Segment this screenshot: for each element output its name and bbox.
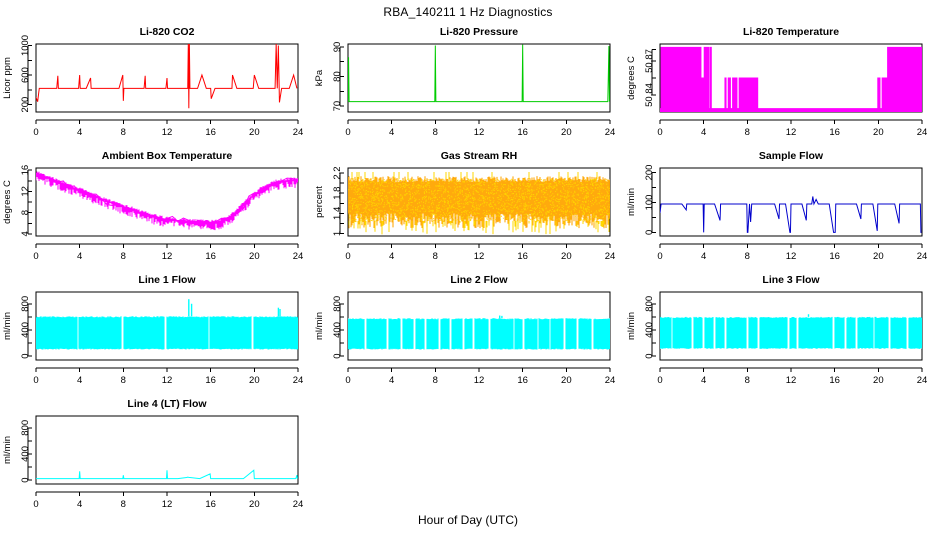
x-tick-label: 4 (701, 251, 706, 262)
x-tick-label: 20 (561, 251, 572, 262)
y-axis-title: degrees C (626, 56, 637, 100)
panel-li820-pressure[interactable]: Li-820 Pressure04812162024kPa708090 (312, 20, 624, 144)
y-tick-label: 400 (20, 322, 31, 338)
plot-data (36, 299, 298, 349)
x-tick-label: 12 (786, 251, 797, 262)
x-tick-label: 20 (561, 127, 572, 138)
x-tick-label: 24 (917, 127, 928, 138)
y-axis: 708090 (332, 42, 344, 112)
page-title: RBA_140211 1 Hz Diagnostics (0, 5, 936, 19)
x-tick-label: 8 (745, 127, 750, 138)
x-tick-label: 0 (657, 127, 662, 138)
y-tick-label: 50.84 (644, 83, 655, 107)
x-axis: 04812162024 (657, 368, 927, 386)
x-tick-label: 0 (345, 251, 350, 262)
y-tick-label: 16 (20, 165, 31, 176)
y-axis-title: ml/min (2, 436, 13, 464)
y-axis-title: Licor ppm (2, 57, 13, 99)
panel-title: Line 1 Flow (138, 274, 196, 286)
panel-title: Li-820 Pressure (440, 26, 518, 38)
x-axis: 04812162024 (657, 244, 927, 262)
panel-title: Sample Flow (759, 150, 824, 162)
y-tick-label: 90 (332, 42, 343, 53)
plot-data (36, 172, 298, 231)
x-tick-label: 8 (121, 251, 126, 262)
x-tick-label: 0 (657, 375, 662, 386)
x-tick-label: 4 (389, 251, 394, 262)
x-tick-label: 16 (205, 251, 216, 262)
y-axis-title: degrees C (2, 180, 13, 224)
x-tick-label: 16 (517, 127, 528, 138)
y-tick-label: 400 (332, 322, 343, 338)
x-tick-label: 8 (121, 375, 126, 386)
x-tick-label: 12 (474, 375, 485, 386)
panel-line-1-flow[interactable]: Line 1 Flow04812162024ml/min0400800 (0, 268, 312, 392)
x-tick-label: 24 (605, 375, 616, 386)
plot-data (36, 470, 297, 478)
x-tick-label: 4 (389, 127, 394, 138)
x-tick-label: 0 (657, 251, 662, 262)
x-axis: 04812162024 (345, 368, 615, 386)
x-tick-label: 12 (786, 127, 797, 138)
x-tick-label: 24 (293, 499, 304, 510)
y-tick-label: 1 (332, 231, 343, 236)
x-tick-label: 20 (249, 375, 260, 386)
y-tick-label: 12 (20, 186, 31, 197)
x-tick-label: 12 (162, 251, 173, 262)
x-tick-label: 0 (33, 127, 38, 138)
y-axis-title: percent (314, 186, 325, 218)
x-tick-label: 24 (605, 127, 616, 138)
x-tick-label: 12 (474, 127, 485, 138)
y-tick-label: 0 (20, 353, 31, 358)
panel-line-2-flow[interactable]: Line 2 Flow04812162024ml/min0400800 (312, 268, 624, 392)
x-tick-label: 16 (205, 499, 216, 510)
x-axis: 04812162024 (345, 244, 615, 262)
x-axis: 04812162024 (345, 120, 615, 138)
x-tick-label: 12 (786, 375, 797, 386)
y-tick-label: 0 (644, 353, 655, 358)
x-tick-label: 8 (745, 251, 750, 262)
y-tick-label: 600 (20, 67, 31, 83)
x-tick-label: 24 (605, 251, 616, 262)
panel-title: Line 4 (LT) Flow (127, 398, 207, 410)
y-axis-title: ml/min (2, 312, 13, 340)
x-tick-label: 24 (293, 375, 304, 386)
panel-ambient-box-temperature[interactable]: Ambient Box Temperature04812162024degree… (0, 144, 312, 268)
x-tick-label: 16 (205, 127, 216, 138)
plot-data (348, 172, 611, 234)
x-tick-label: 8 (433, 127, 438, 138)
plot-data (660, 314, 922, 349)
panel-title: Line 2 Flow (450, 274, 508, 286)
panel-title: Line 3 Flow (762, 274, 820, 286)
x-tick-label: 4 (701, 375, 706, 386)
y-axis: 2006001000 (20, 35, 32, 113)
x-tick-label: 0 (33, 251, 38, 262)
x-axis: 04812162024 (657, 120, 927, 138)
panel-li820-co2[interactable]: Li-820 CO204812162024Licor ppm2006001000 (0, 20, 312, 144)
x-tick-label: 24 (917, 251, 928, 262)
x-axis: 04812162024 (33, 120, 303, 138)
y-axis-title: ml/min (314, 312, 325, 340)
plot-data (348, 316, 610, 350)
x-tick-label: 8 (121, 127, 126, 138)
x-tick-label: 20 (561, 375, 572, 386)
panel-line-3-flow[interactable]: Line 3 Flow04812162024ml/min0400800 (624, 268, 936, 392)
x-tick-label: 0 (33, 375, 38, 386)
y-tick-label: 400 (644, 322, 655, 338)
panel-li820-temperature[interactable]: Li-820 Temperature04812162024degrees C50… (624, 20, 936, 144)
x-tick-label: 24 (917, 375, 928, 386)
x-tick-label: 16 (829, 127, 840, 138)
x-axis: 04812162024 (33, 244, 303, 262)
x-tick-label: 20 (249, 127, 260, 138)
y-tick-label: 0 (332, 353, 343, 358)
y-axis-title: ml/min (626, 188, 637, 216)
x-tick-label: 16 (517, 251, 528, 262)
x-tick-label: 4 (701, 127, 706, 138)
x-tick-label: 12 (162, 375, 173, 386)
y-tick-label: 200 (644, 165, 655, 181)
x-tick-label: 8 (433, 375, 438, 386)
y-axis: 0400800 (644, 296, 656, 359)
y-tick-label: 0 (644, 230, 655, 235)
panel-sample-flow[interactable]: Sample Flow04812162024ml/min0100200 (624, 144, 936, 268)
plot-data (660, 47, 921, 112)
y-tick-label: 8 (20, 210, 31, 215)
panel-gas-stream-rh[interactable]: Gas Stream RH04812162024percent11.41.82.… (312, 144, 624, 268)
plot-data (660, 196, 921, 232)
x-tick-label: 4 (77, 127, 82, 138)
x-tick-label: 0 (345, 127, 350, 138)
y-axis: 0400800 (332, 296, 344, 359)
global-xaxis-label: Hour of Day (UTC) (0, 513, 936, 527)
x-tick-label: 16 (205, 375, 216, 386)
y-tick-label: 50.87 (644, 49, 655, 73)
x-tick-label: 20 (873, 251, 884, 262)
panel-line-4-lt-flow[interactable]: Line 4 (LT) Flow04812162024ml/min0400800 (0, 392, 312, 516)
y-tick-label: 2.2 (332, 166, 343, 179)
x-tick-label: 8 (121, 499, 126, 510)
y-tick-label: 800 (332, 296, 343, 312)
plot-frame (36, 168, 298, 236)
y-tick-label: 1000 (20, 35, 31, 56)
y-axis: 11.41.82.2 (332, 166, 344, 236)
x-tick-label: 20 (873, 375, 884, 386)
x-tick-label: 24 (293, 127, 304, 138)
y-axis-title: ml/min (626, 312, 637, 340)
y-axis: 0100200 (644, 165, 656, 235)
y-axis: 0400800 (20, 296, 32, 359)
x-tick-label: 16 (829, 251, 840, 262)
x-axis: 04812162024 (33, 368, 303, 386)
x-tick-label: 20 (249, 499, 260, 510)
x-tick-label: 12 (162, 127, 173, 138)
y-tick-label: 400 (20, 446, 31, 462)
x-tick-label: 0 (345, 375, 350, 386)
y-tick-label: 70 (332, 101, 343, 112)
x-tick-label: 4 (77, 375, 82, 386)
x-tick-label: 24 (293, 251, 304, 262)
y-tick-label: 80 (332, 71, 343, 82)
y-tick-label: 800 (20, 420, 31, 436)
y-tick-label: 4 (20, 231, 31, 236)
x-tick-label: 16 (829, 375, 840, 386)
plot-data (348, 45, 609, 102)
x-tick-label: 0 (33, 499, 38, 510)
y-axis: 50.8450.87 (644, 49, 656, 107)
x-tick-label: 4 (77, 499, 82, 510)
y-tick-label: 1.8 (332, 187, 343, 200)
panel-title: Li-820 Temperature (743, 26, 839, 38)
panel-title: Ambient Box Temperature (102, 150, 233, 162)
x-tick-label: 16 (517, 375, 528, 386)
panel-title: Li-820 CO2 (140, 26, 195, 38)
y-axis: 0400800 (20, 420, 32, 483)
y-tick-label: 100 (644, 195, 655, 211)
y-tick-label: 0 (20, 477, 31, 482)
x-tick-label: 20 (249, 251, 260, 262)
x-tick-label: 4 (77, 251, 82, 262)
x-tick-label: 20 (873, 127, 884, 138)
y-tick-label: 1.4 (332, 207, 343, 220)
panel-title: Gas Stream RH (441, 150, 517, 162)
x-tick-label: 4 (389, 375, 394, 386)
x-axis: 04812162024 (33, 492, 303, 510)
y-tick-label: 200 (20, 97, 31, 113)
y-tick-label: 800 (20, 296, 31, 312)
x-tick-label: 8 (745, 375, 750, 386)
y-axis: 481216 (20, 165, 32, 237)
x-tick-label: 12 (474, 251, 485, 262)
plot-data (36, 44, 297, 108)
x-tick-label: 8 (433, 251, 438, 262)
y-tick-label: 800 (644, 296, 655, 312)
y-axis-title: kPa (314, 69, 325, 86)
x-tick-label: 12 (162, 499, 173, 510)
